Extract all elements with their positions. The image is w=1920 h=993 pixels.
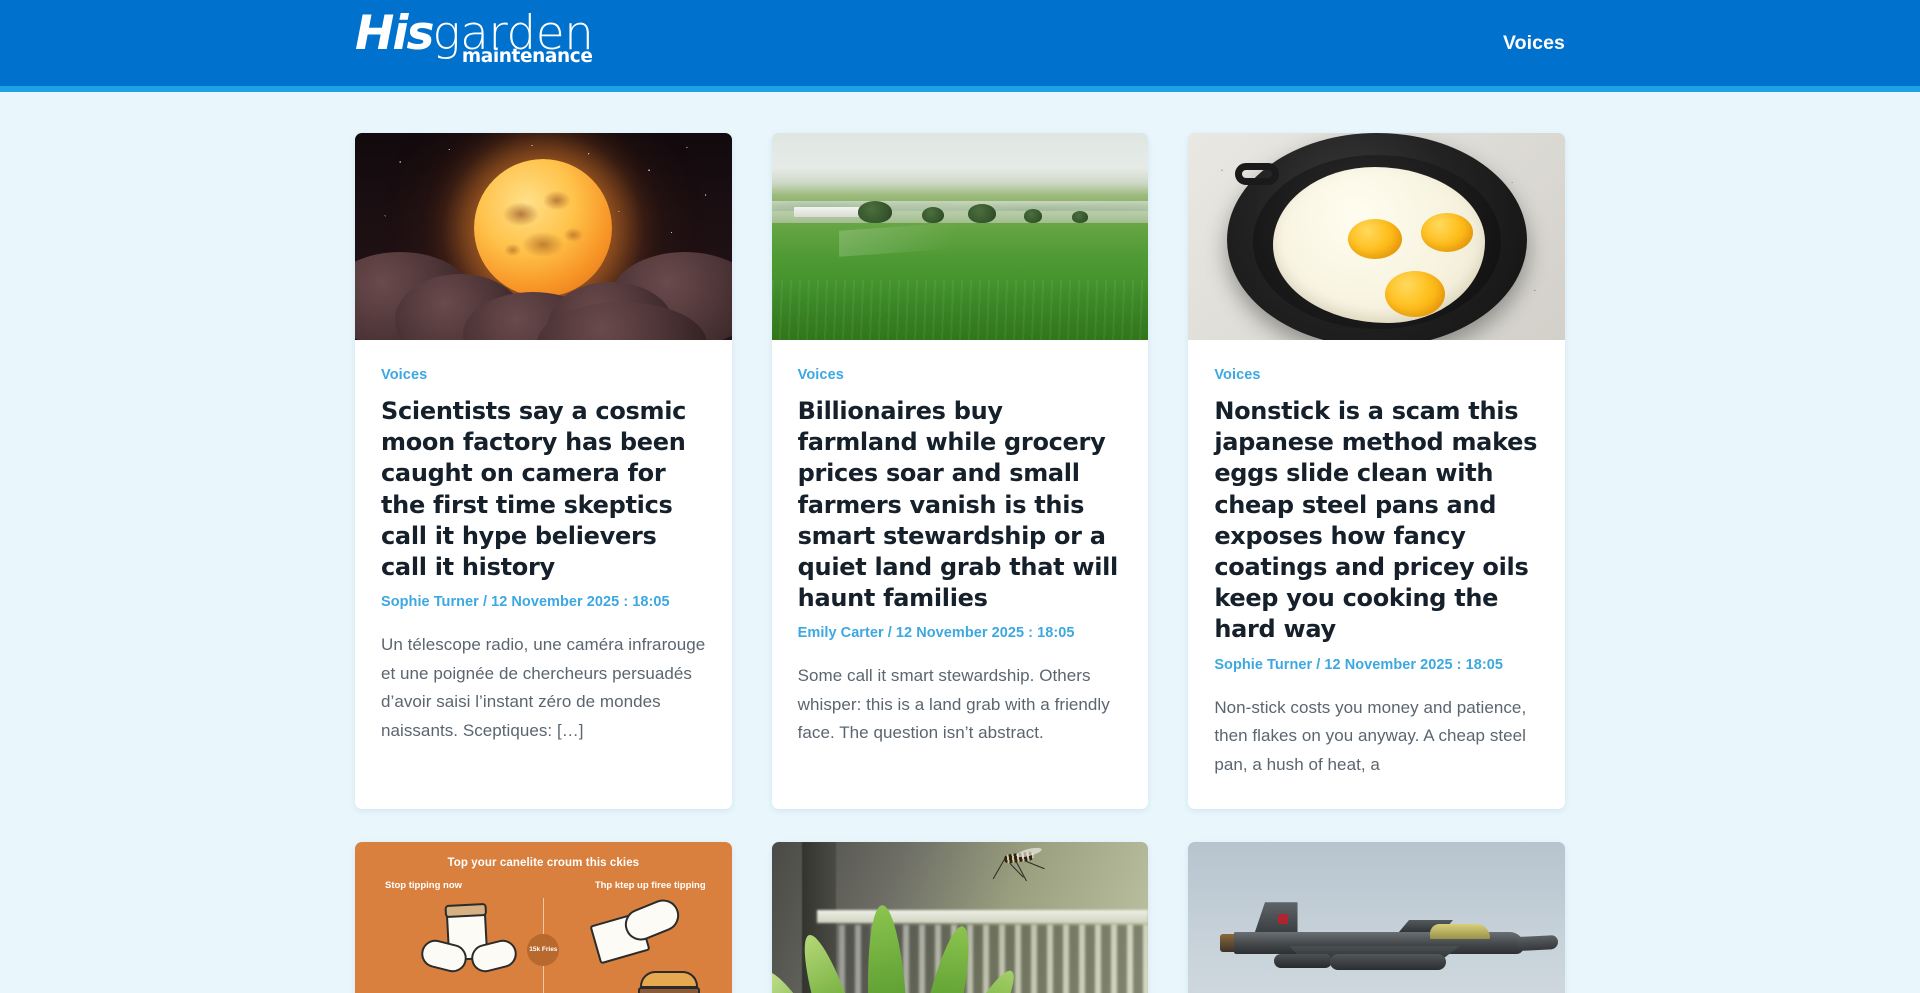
- post-card-body: Voices Nonstick is a scam this japanese …: [1188, 340, 1565, 809]
- main-navigation: Voices: [1503, 0, 1920, 86]
- egg-yolk-icon: [1385, 271, 1445, 317]
- moon-illustration: [355, 133, 732, 340]
- field-track: [839, 219, 1005, 257]
- thumbnail-fighter-jet-in-flight[interactable]: [1188, 842, 1565, 993]
- post-byline: Emily Carter / 12 November 2025 : 18:05: [798, 625, 1123, 641]
- post-byline: Sophie Turner / 12 November 2025 : 18:05: [1214, 657, 1539, 673]
- egg-white: [1273, 167, 1485, 323]
- post-byline: Sophie Turner / 12 November 2025 : 18:05: [381, 594, 706, 610]
- post-card[interactable]: Top your canelite croum this ckies Stop …: [355, 842, 732, 993]
- tree-line-icon: [772, 197, 1149, 223]
- thumbnail-fried-eggs-in-pan[interactable]: [1188, 133, 1565, 340]
- main-content: Voices Scientists say a cosmic moon fact…: [0, 92, 1920, 993]
- thumbnail-orange-tipping-infographic[interactable]: Top your canelite croum this ckies Stop …: [355, 842, 732, 993]
- post-card[interactable]: [772, 842, 1149, 993]
- post-title-link[interactable]: Billionaires buy farmland while grocery …: [798, 396, 1123, 614]
- site-logo[interactable]: Hisgarden maintenance: [355, 12, 593, 66]
- thumbnail-glowing-moon-in-clouds[interactable]: [355, 133, 732, 340]
- post-category-link[interactable]: Voices: [381, 367, 427, 383]
- grass-texture: [772, 280, 1149, 340]
- farmland-photo: [772, 133, 1149, 340]
- infographic-left-label: Stop tipping now: [385, 880, 462, 891]
- post-card[interactable]: Voices Nonstick is a scam this japanese …: [1188, 133, 1565, 809]
- post-excerpt: Some call it smart stewardship. Others w…: [798, 662, 1123, 748]
- post-excerpt: Non-stick costs you money and patience, …: [1214, 694, 1539, 780]
- roundel-icon: [1278, 914, 1288, 924]
- logo-word-his: His: [355, 6, 432, 61]
- post-card-body: Voices Scientists say a cosmic moon fact…: [355, 340, 732, 775]
- nav-item-voices[interactable]: Voices: [1503, 32, 1565, 55]
- post-title-link[interactable]: Scientists say a cosmic moon factory has…: [381, 396, 706, 583]
- egg-yolk-icon: [1421, 213, 1473, 252]
- post-card[interactable]: Voices Billionaires buy farmland while g…: [772, 133, 1149, 809]
- post-grid: Voices Scientists say a cosmic moon fact…: [355, 92, 1565, 993]
- post-category-link[interactable]: Voices: [1214, 367, 1260, 383]
- thumbnail-green-farmland-field[interactable]: [772, 133, 1149, 340]
- post-title-link[interactable]: Nonstick is a scam this japanese method …: [1214, 396, 1539, 646]
- burger-plate-icon: [636, 971, 702, 993]
- thumbnail-mosquito-on-plant[interactable]: [772, 842, 1149, 993]
- post-excerpt: Un télescope radio, une caméra infraroug…: [381, 631, 706, 745]
- fighter-jet-icon: [1234, 904, 1534, 980]
- post-card-body: Voices Billionaires buy farmland while g…: [772, 340, 1149, 778]
- eggs-photo: [1188, 133, 1565, 340]
- pan-handle-icon: [1235, 163, 1279, 185]
- clouds-icon: [355, 222, 732, 340]
- post-card[interactable]: [1188, 842, 1565, 993]
- infographic-badge: 15k Fries: [527, 934, 559, 966]
- egg-yolk-icon: [1348, 219, 1402, 259]
- post-category-link[interactable]: Voices: [798, 367, 844, 383]
- tipping-infographic: Top your canelite croum this ckies Stop …: [355, 842, 732, 993]
- frying-pan-icon: [1227, 133, 1527, 340]
- plant-photo: [772, 842, 1149, 993]
- infographic-heading: Top your canelite croum this ckies: [355, 857, 732, 869]
- fighter-jet-photo: [1188, 842, 1565, 993]
- cockpit-canopy: [1430, 924, 1490, 939]
- infographic-right-label: Thp ktep up firee tipping: [595, 880, 706, 891]
- mosquito-icon: [992, 847, 1050, 889]
- post-card[interactable]: Voices Scientists say a cosmic moon fact…: [355, 133, 732, 809]
- site-header: Hisgarden maintenance Voices: [0, 0, 1920, 86]
